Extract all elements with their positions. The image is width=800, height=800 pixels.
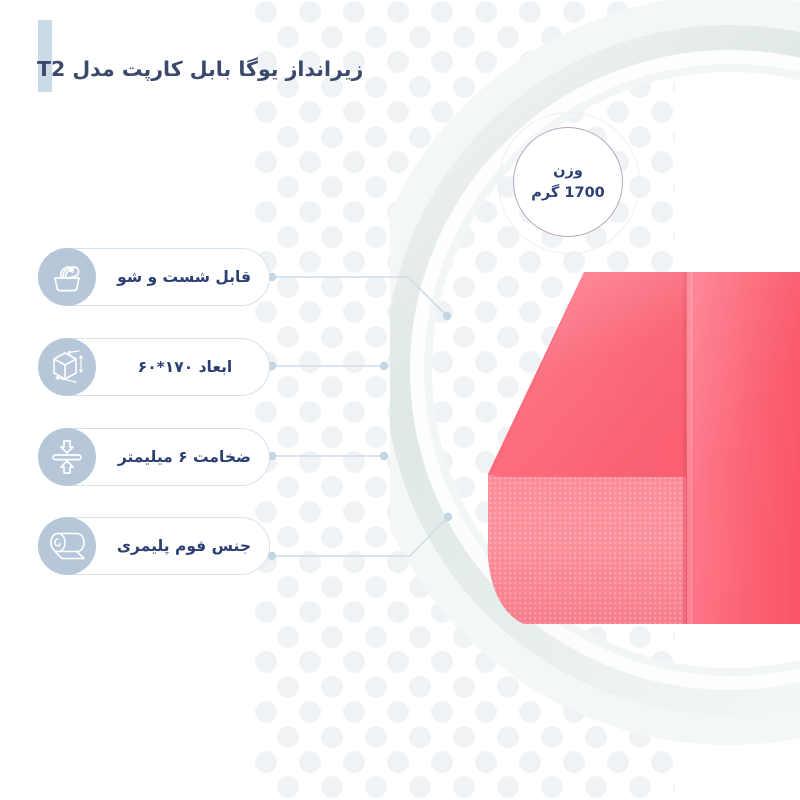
- weight-badge-label: وزن: [553, 163, 583, 179]
- rolled-mat-icon: [38, 517, 96, 575]
- feature-label-material: جنس فوم پلیمری: [119, 537, 251, 555]
- feature-label-thickness: ضخامت ۶ میلیمتر: [119, 448, 251, 466]
- feature-label-dimensions: ابعاد ۱۷۰*۶۰: [119, 358, 251, 376]
- feature-item-thickness[interactable]: ضخامت ۶ میلیمتر: [38, 428, 270, 486]
- product-image: [474, 252, 800, 644]
- feature-item-dimensions[interactable]: ابعاد ۱۷۰*۶۰: [38, 338, 270, 396]
- connector-dot-end-4: [444, 513, 452, 521]
- weight-badge: وزن 1700 گرم: [518, 132, 618, 232]
- page-title: زیرانداز یوگا بابل کارپت مدل T2: [37, 56, 457, 84]
- feature-label-washable: قابل شست و شو: [119, 268, 251, 286]
- infographic-canvas: زیرانداز یوگا بابل کارپت مدل T2 وزن 1700…: [0, 0, 800, 800]
- connector-washable: [272, 277, 446, 315]
- connector-dot-end-1: [443, 312, 451, 320]
- feature-item-washable[interactable]: قابل شست و شو: [38, 248, 270, 306]
- connector-dot-end-2: [380, 362, 388, 370]
- thickness-arrows-icon: [38, 428, 96, 486]
- connector-dot-end-3: [380, 452, 388, 460]
- feature-item-material[interactable]: جنس فوم پلیمری: [38, 517, 270, 575]
- hand-wash-icon: [38, 248, 96, 306]
- box-dimensions-icon: [38, 338, 96, 396]
- connector-material: [272, 518, 447, 556]
- weight-badge-value: 1700 گرم: [531, 185, 605, 201]
